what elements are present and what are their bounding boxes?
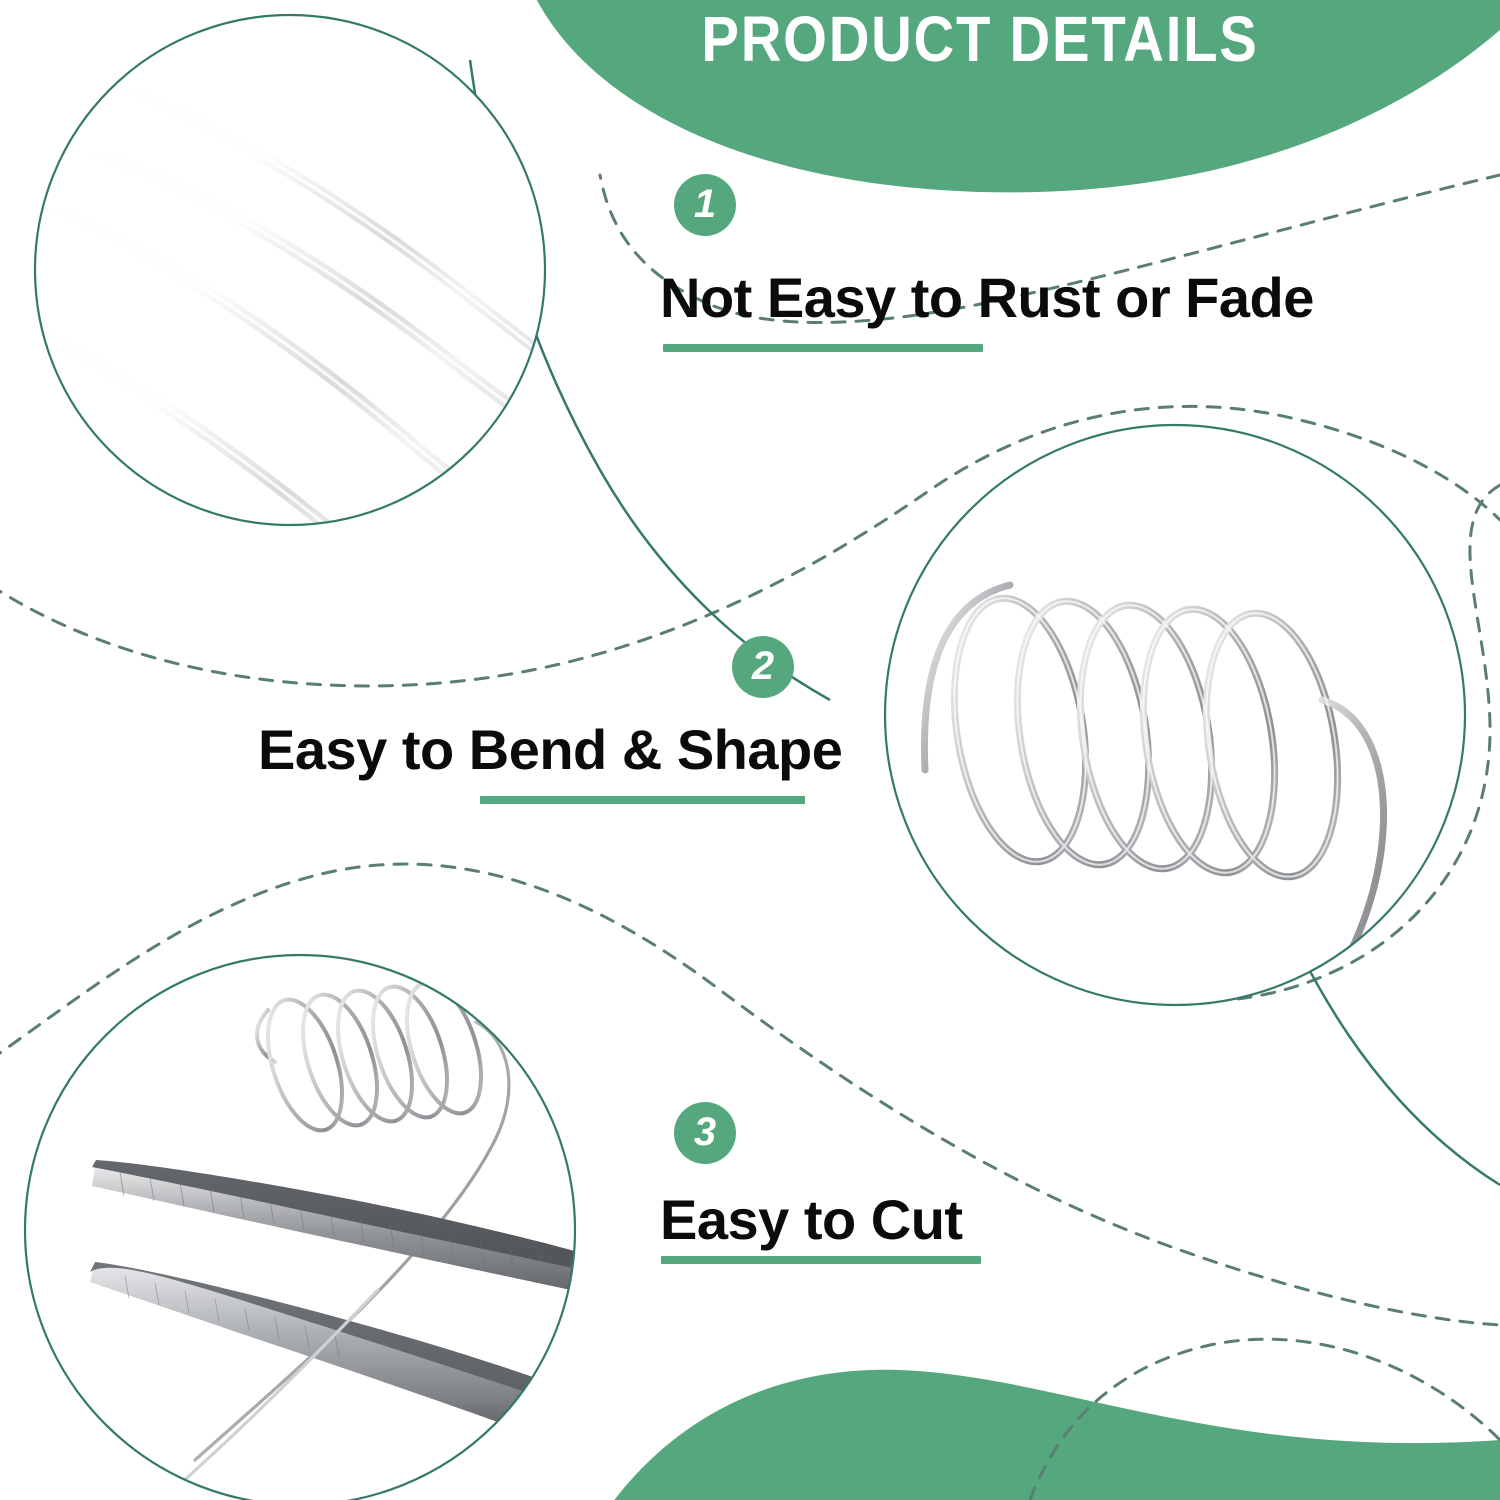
feature-2-number-badge: 2 [732, 636, 794, 698]
feature-2-number: 2 [752, 646, 774, 686]
feature-2-title: Easy to Bend & Shape [258, 722, 842, 778]
feature-1-underline [663, 344, 983, 352]
feature-3-underline [661, 1256, 981, 1264]
feature-3-number-badge: 3 [674, 1102, 736, 1164]
feature-1-number-badge: 1 [674, 174, 736, 236]
page-title: PRODUCT DETAILS [646, 6, 1315, 73]
feature-2-underline [480, 796, 805, 804]
feature-1-title: Not Easy to Rust or Fade [660, 270, 1314, 326]
feature-3-title: Easy to Cut [660, 1192, 963, 1248]
product-details-infographic: PRODUCT DETAILS 1 Not Easy to Rust or Fa… [0, 0, 1500, 1500]
feature-1-number: 1 [694, 184, 716, 224]
content-layer: PRODUCT DETAILS 1 Not Easy to Rust or Fa… [0, 0, 1500, 1500]
feature-3-number: 3 [694, 1112, 716, 1152]
